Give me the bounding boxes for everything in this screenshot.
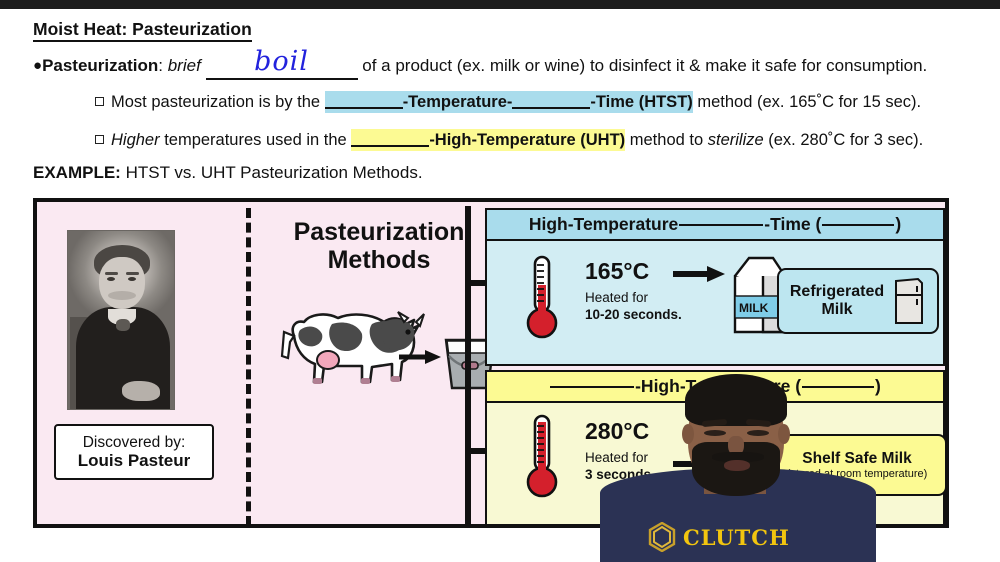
thermometer-uht-icon xyxy=(523,414,561,500)
htst-result-line-1: Refrigerated xyxy=(790,283,884,300)
uht-tail-b: (ex. 280˚C for 3 sec). xyxy=(764,131,924,149)
diagram-title-line-1: Pasteurization xyxy=(269,218,489,246)
htst-result-text: Refrigerated Milk xyxy=(790,283,884,319)
refrigerator-icon xyxy=(892,277,926,325)
uht-tail-italic: sterilize xyxy=(708,131,764,149)
htst-duration-line-2: 10-20 seconds. xyxy=(585,307,682,322)
presenter-eye-right xyxy=(747,430,769,436)
htst-highlight: -Temperature--Time (HTST) xyxy=(325,91,693,113)
uht-lead-text: temperatures used in the xyxy=(160,131,352,149)
pasteurization-definition-line: ●Pasteurization: brief boil of a product… xyxy=(33,55,983,80)
uht-highlight: -High-Temperature (UHT) xyxy=(351,129,625,151)
caption-line-1: Discovered by: xyxy=(83,434,186,451)
webcam-overlay: CLUTCH xyxy=(600,372,876,562)
diagram-title-line-2: Methods xyxy=(269,246,489,274)
diagram-title: Pasteurization Methods xyxy=(269,218,489,274)
blank-line xyxy=(351,145,429,147)
blank-line xyxy=(679,224,763,226)
htst-panel: High-Temperature -Time () 165°C Heated f… xyxy=(485,208,945,366)
htst-header-a: High-Temperature xyxy=(529,214,678,235)
htst-result-box: Refrigerated Milk xyxy=(777,268,939,334)
htst-trailing-text: method (ex. 165˚C for 15 sec). xyxy=(693,93,921,111)
definition-rest: of a product (ex. milk or wine) to disin… xyxy=(358,56,928,75)
discovered-by-caption: Discovered by: Louis Pasteur xyxy=(54,424,214,480)
louis-pasteur-photo xyxy=(67,230,175,410)
handwritten-answer: boil xyxy=(254,45,309,79)
presenter-mouth xyxy=(724,460,750,471)
definition-term: Pasteurization xyxy=(42,56,158,75)
carton-label: MILK xyxy=(739,301,769,315)
slide-canvas: Moist Heat: Pasteurization ●Pasteurizati… xyxy=(0,0,1000,562)
thermometer-htst-icon xyxy=(523,255,561,341)
presenter-ear-left xyxy=(682,424,694,444)
htst-mid-text: -Temperature- xyxy=(403,93,513,111)
presenter-ear-right xyxy=(778,424,790,444)
htst-header-c: ) xyxy=(895,214,901,235)
uht-lead-italic: Higher xyxy=(111,131,160,149)
htst-panel-header: High-Temperature -Time () xyxy=(487,210,943,241)
checkbox-square-icon xyxy=(95,135,104,144)
checkbox-square-icon xyxy=(95,97,104,106)
definition-colon: : xyxy=(158,56,167,75)
blank-line xyxy=(325,107,403,109)
branch-vertical-line xyxy=(465,206,471,528)
htst-duration: Heated for 10-20 seconds. xyxy=(585,290,682,324)
htst-lead-text: Most pasteurization is by the xyxy=(111,93,325,111)
presenter-eye-left xyxy=(704,430,726,436)
top-bar xyxy=(0,0,1000,9)
example-text: HTST vs. UHT Pasteurization Methods. xyxy=(121,163,423,182)
uht-mid-text: -High-Temperature (UHT) xyxy=(429,131,625,149)
example-label: EXAMPLE: xyxy=(33,163,121,182)
handwriting-blank: boil xyxy=(206,55,358,80)
uht-tail-a: method to xyxy=(625,131,708,149)
vertical-dashed-divider xyxy=(246,208,251,526)
htst-temperature: 165°C xyxy=(585,258,649,285)
definition-italic-word: brief xyxy=(168,56,201,75)
bullet-dot-icon: ● xyxy=(33,57,42,74)
clutch-logo: CLUTCH xyxy=(648,522,838,552)
arrow-cow-to-bucket-icon xyxy=(399,350,441,364)
arrow-htst-to-carton-icon xyxy=(673,266,725,282)
htst-duration-line-1: Heated for xyxy=(585,290,648,305)
uht-note-line: Higher temperatures used in the -High-Te… xyxy=(95,130,995,151)
caption-line-2: Louis Pasteur xyxy=(78,451,190,470)
blank-line xyxy=(512,107,590,109)
cow-illustration xyxy=(280,302,430,390)
htst-header-b: -Time ( xyxy=(764,214,821,235)
pasteur-panel: Discovered by: Louis Pasteur xyxy=(37,202,245,524)
htst-note-line: Most pasteurization is by the -Temperatu… xyxy=(95,92,995,113)
presenter-hair xyxy=(685,374,787,426)
blank-line xyxy=(822,224,894,226)
clutch-logo-text: CLUTCH xyxy=(683,525,790,550)
page-title: Moist Heat: Pasteurization xyxy=(33,19,252,42)
hexagon-icon xyxy=(648,522,676,552)
htst-tail-text: -Time (HTST) xyxy=(590,93,692,111)
example-line: EXAMPLE: HTST vs. UHT Pasteurization Met… xyxy=(33,163,423,183)
htst-result-line-2: Milk xyxy=(821,301,852,318)
